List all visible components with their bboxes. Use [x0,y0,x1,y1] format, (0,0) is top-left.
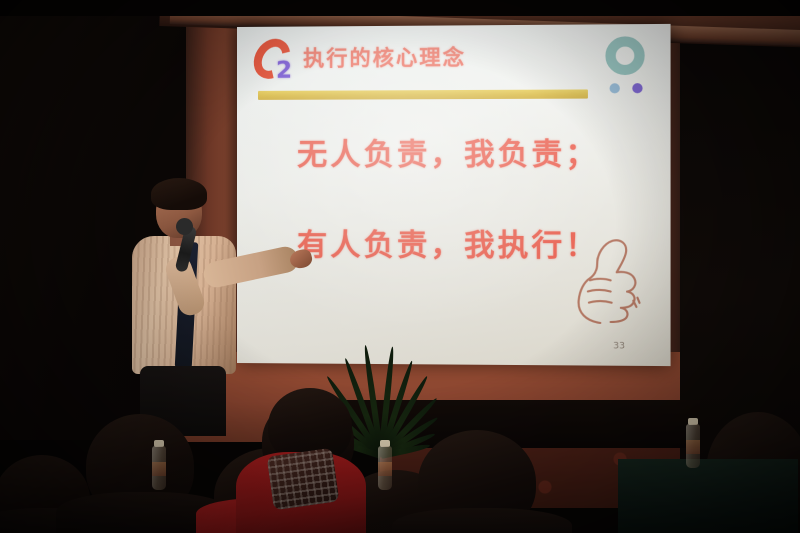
logo-digit: 2 [276,58,292,84]
presentation-photo-scene: 2 执行的核心理念 无人负责，我负责； 有人负责，我执行！ [0,0,800,533]
presenter-hair [151,178,207,210]
audience-plaid-scarf [267,448,340,511]
blue-dot-icon [610,83,620,93]
slide-body-line-2: 有人负责，我执行！ [297,220,599,265]
slide-title: 执行的核心理念 [303,42,466,73]
side-table [618,459,798,533]
bottle-label [686,440,700,454]
title-divider-bar [258,89,588,99]
ceiling [0,0,800,16]
thumbs-up-icon [569,234,649,328]
bottle-label [378,462,392,476]
q2-logo-icon: 2 [255,38,297,84]
slide-body-line-1: 无人负责，我负责； [297,129,599,174]
audience-shoulders [392,508,572,533]
teal-ring-icon [605,36,644,75]
slide-page-number: 33 [613,341,625,351]
presenter-figure [118,178,318,428]
bottle-label [152,462,166,476]
purple-dot-icon [632,83,642,93]
